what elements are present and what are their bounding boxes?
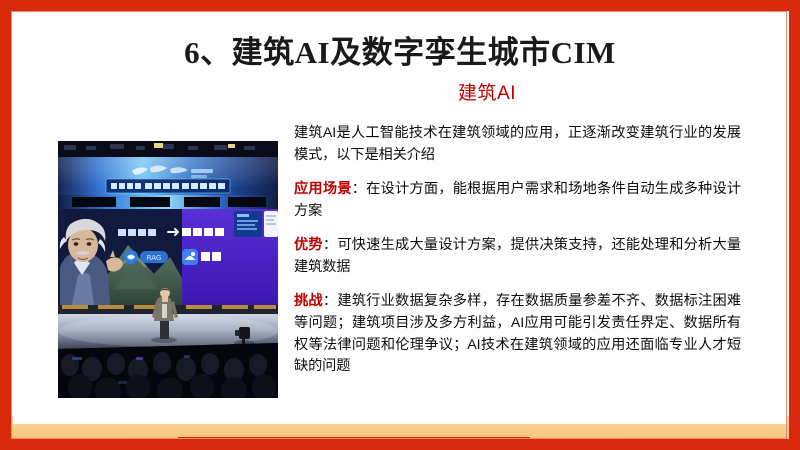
section-label-challenges: 挑战 [294,293,323,309]
section-text-advantages: 可快速生成大量设计方案，提供决策支持，还能处理和分析大量建筑数据 [294,237,741,275]
section-subtitle: 建筑AI [257,78,717,105]
frame-border-bottom [0,439,800,450]
section-paragraph-scenarios: 应用场景：在设计方面，能根据用户需求和场地条件自动生成多种设计方案 [294,179,741,222]
section-paragraph-challenges: 挑战：建筑行业数据复杂多样，存在数据质量参差不齐、数据标注困难等问题；建筑项目涉… [294,291,741,377]
section-text-challenges: 建筑行业数据复杂多样，存在数据质量参差不齐、数据标注困难等问题；建筑项目涉及多方… [294,293,741,374]
section-separator-advantages: ： [323,237,337,253]
section-separator-scenarios: ： [352,181,366,197]
section-label-advantages: 优势 [294,237,323,253]
svg-text:RAG: RAG [147,254,162,262]
section-separator-challenges: ： [323,293,337,309]
content-card: 6、建筑AI及数字孪生城市CIM 建筑AI [13,13,787,424]
frame-border-left [0,0,11,450]
stage-photo: RAG [58,141,278,398]
intro-paragraph: 建筑AI是人工智能技术在建筑领域的应用，正逐渐改变建筑行业的发展模式，以下是相关… [294,123,741,166]
section-paragraph-advantages: 优势：可快速生成大量设计方案，提供决策支持，还能处理和分析大量建筑数据 [294,235,741,278]
frame-border-top [0,0,800,11]
frame-border-right [789,0,800,450]
body-text-column: 建筑AI是人工智能技术在建筑领域的应用，正逐渐改变建筑行业的发展模式，以下是相关… [294,123,741,378]
slide-root: 6、建筑AI及数字孪生城市CIM 建筑AI [0,0,800,450]
page-title: 6、建筑AI及数字孪生城市CIM [13,27,787,72]
section-label-scenarios: 应用场景 [294,181,352,197]
intro-text: 建筑AI是人工智能技术在建筑领域的应用，正逐渐改变建筑行业的发展模式，以下是相关… [294,125,741,163]
